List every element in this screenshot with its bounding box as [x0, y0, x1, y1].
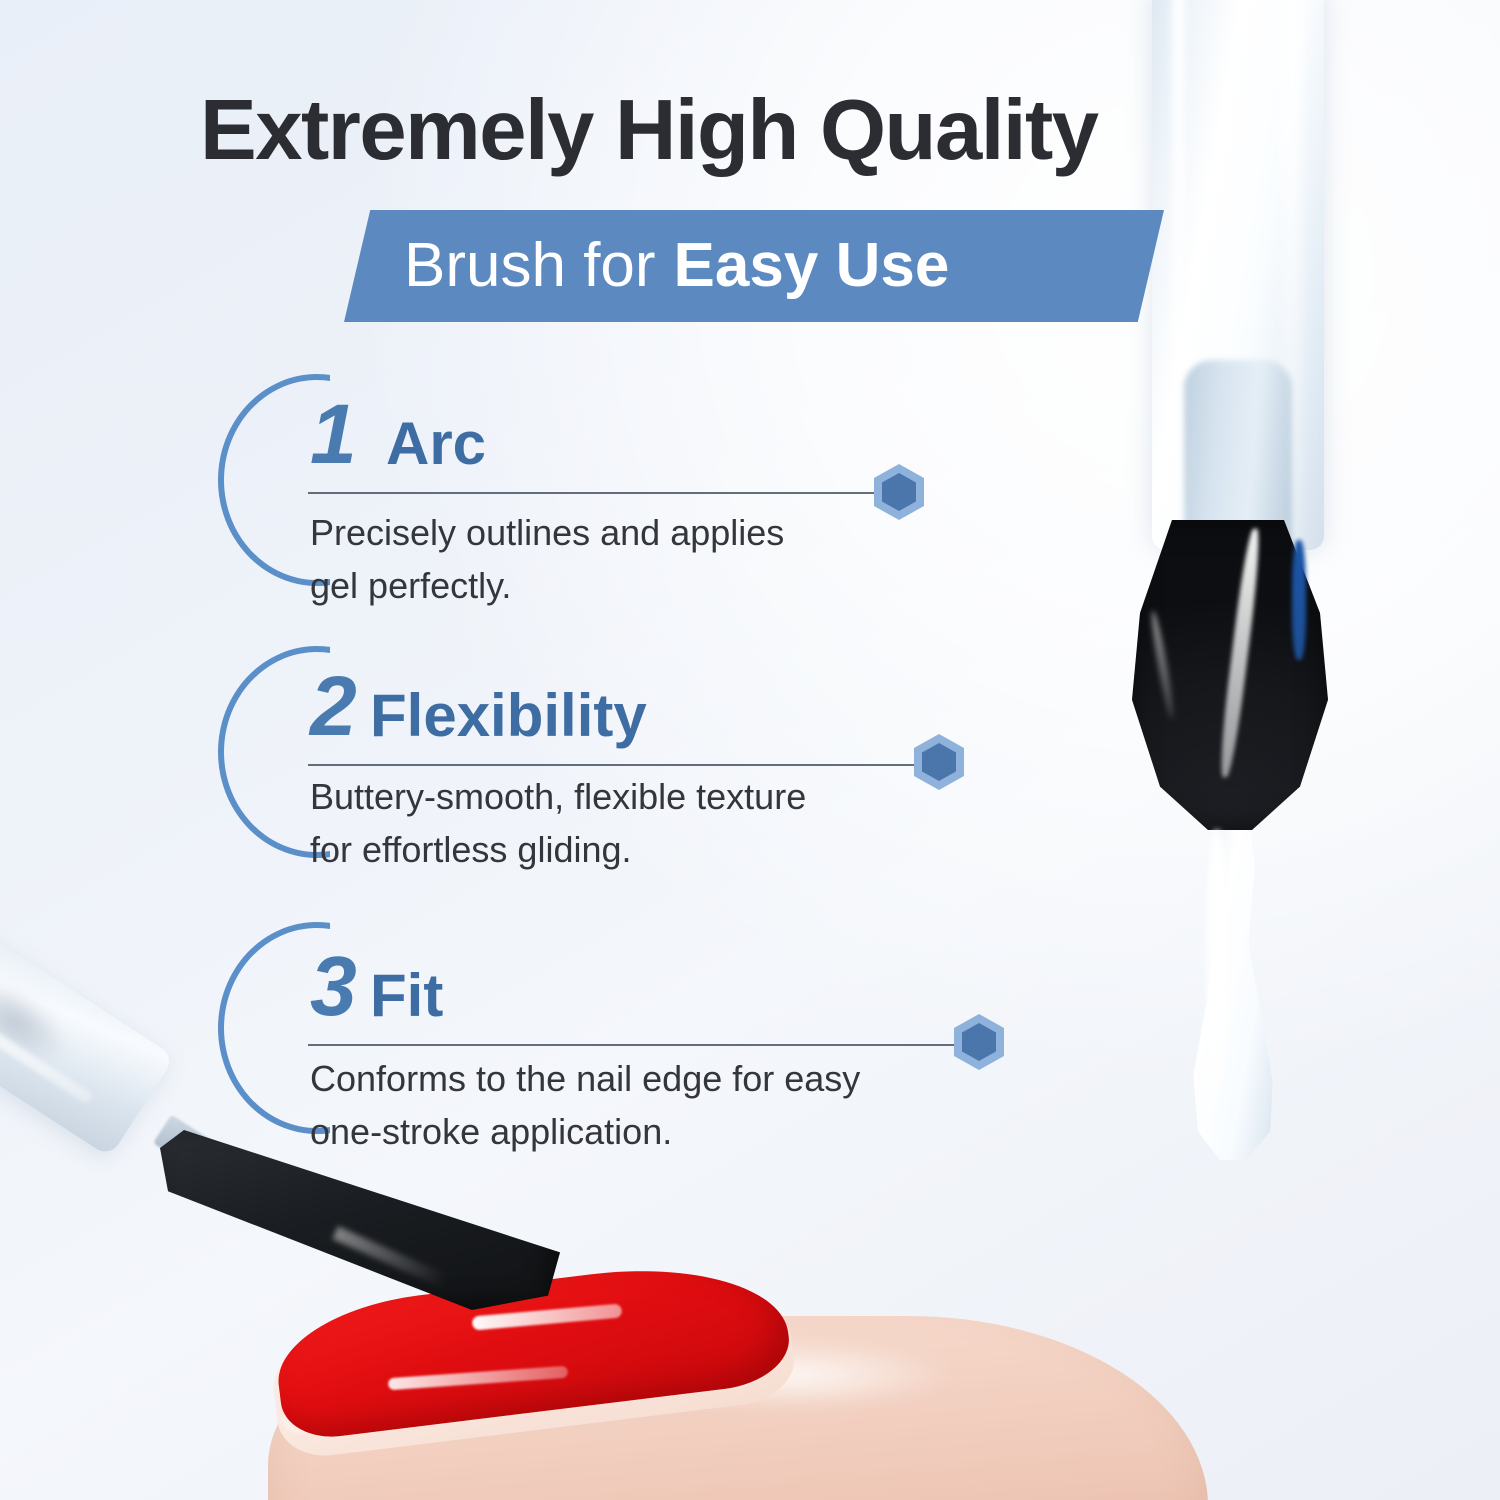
feature-number-3: 3: [310, 944, 357, 1028]
feature-description-3: Conforms to the nail edge for easy one-s…: [310, 1052, 1030, 1159]
bristle-blue-reflection: [1292, 540, 1306, 660]
feature-item-1: 1 Arc Precisely outlines and applies gel…: [218, 374, 948, 604]
banner-bold-text: Easy Use: [674, 235, 950, 297]
subtitle-banner: Brush for Easy Use: [344, 210, 1164, 322]
feature-item-3: 3 Fit Conforms to the nail edge for easy…: [218, 922, 1038, 1162]
feature-number-1: 1: [310, 392, 357, 476]
infographic-canvas: Extremely High Quality Brush for Easy Us…: [0, 0, 1500, 1500]
feature-description-1: Precisely outlines and applies gel perfe…: [310, 506, 930, 613]
feature-title-3: Fit: [370, 966, 443, 1026]
feature-rule-3: [308, 1044, 976, 1046]
feature-item-2: 2 Flexibility Buttery-smooth, flexible t…: [218, 646, 998, 876]
page-title: Extremely High Quality: [200, 88, 1310, 173]
gel-drip: [1178, 800, 1288, 1160]
banner-light-text: Brush for: [404, 235, 656, 297]
feature-title-2: Flexibility: [370, 686, 647, 746]
brush-handle: [0, 912, 175, 1158]
feature-title-1: Arc: [386, 414, 486, 474]
feature-rule-2: [308, 764, 936, 766]
banner-text: Brush for Easy Use: [344, 210, 1164, 322]
gel-drip-highlight: [1206, 830, 1228, 1090]
feature-rule-1: [308, 492, 888, 494]
feature-description-2: Buttery-smooth, flexible texture for eff…: [310, 770, 990, 877]
feature-number-2: 2: [310, 664, 357, 748]
